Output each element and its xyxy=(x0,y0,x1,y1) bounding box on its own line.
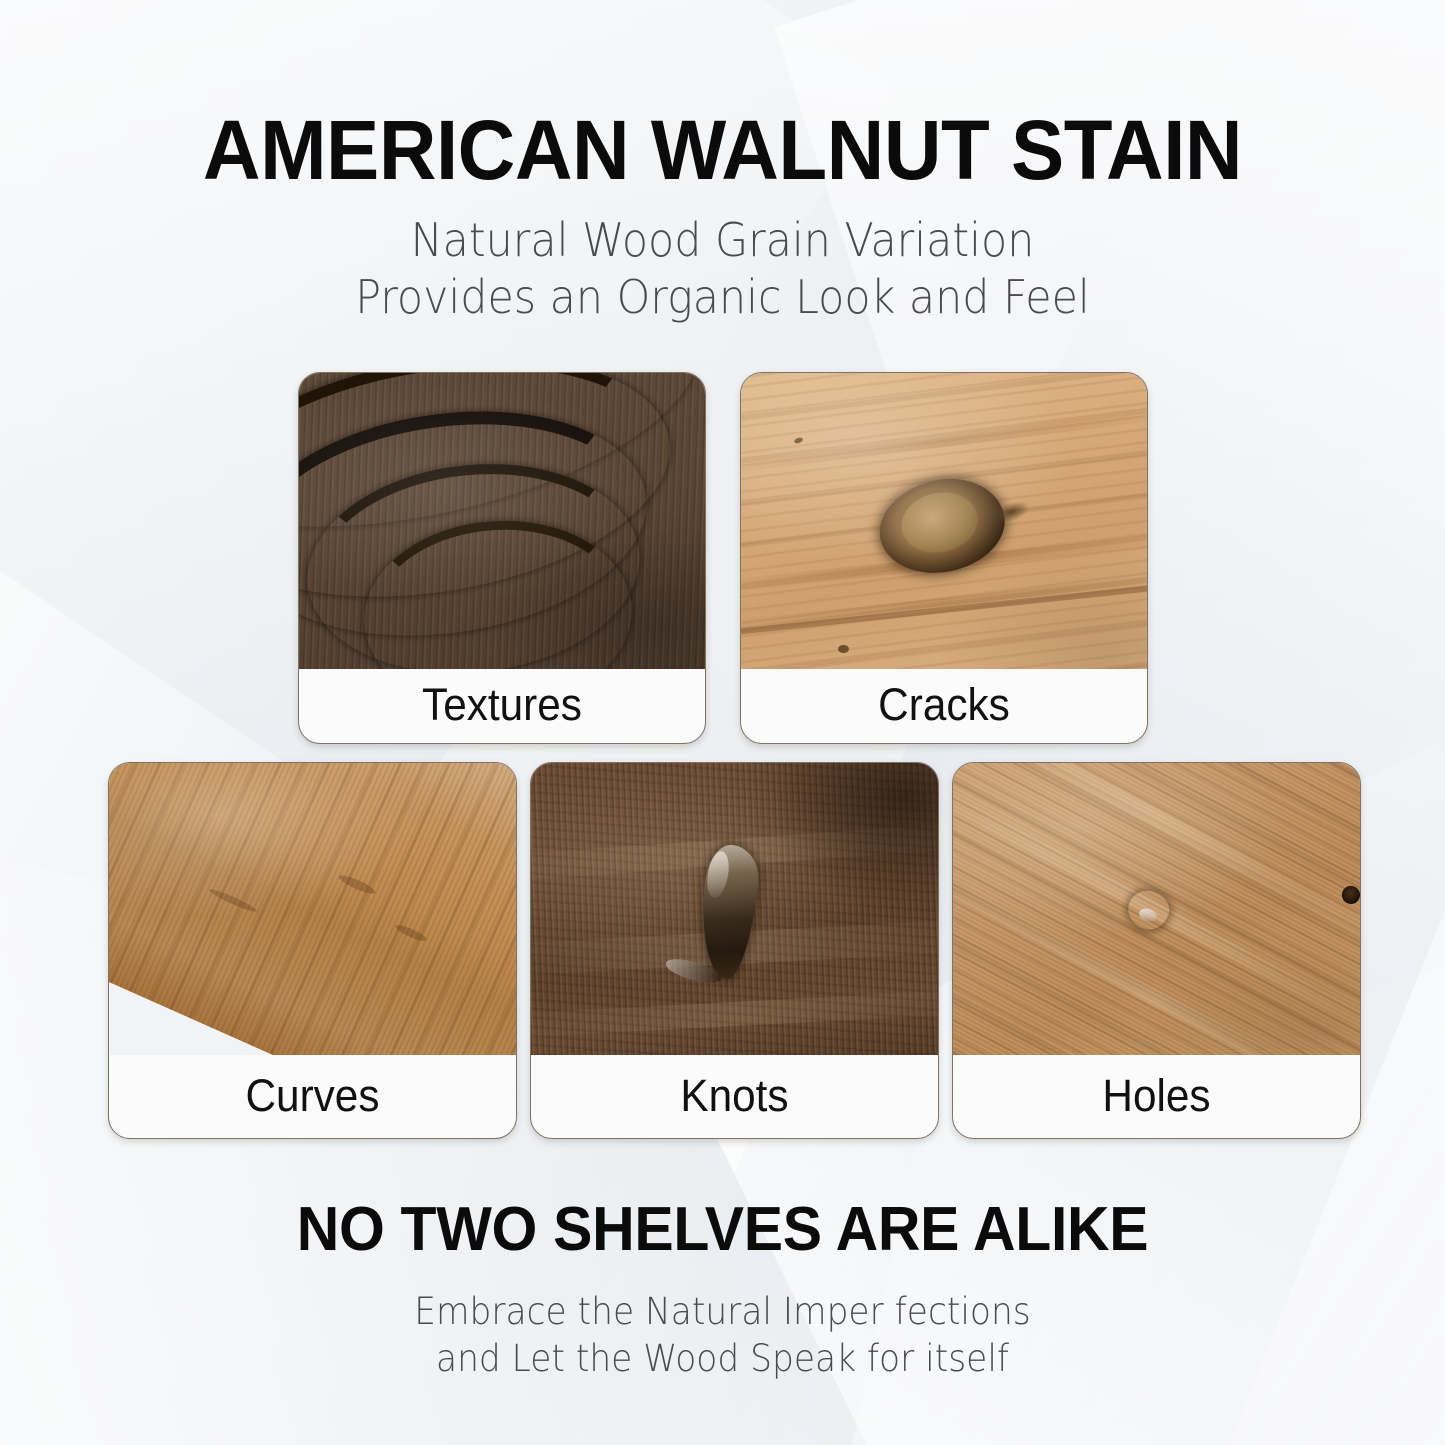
footer-subtitle-line-1: Embrace the Natural Imper fections xyxy=(51,1288,1395,1335)
cracks-swatch-image xyxy=(741,373,1147,669)
feature-card-textures[interactable]: Textures xyxy=(298,372,706,744)
feature-card-knots[interactable]: Knots xyxy=(530,762,939,1139)
dark-walnut-texture xyxy=(299,373,705,669)
footer-subtitle: Embrace the Natural Imper fections and L… xyxy=(51,1288,1395,1382)
knots-swatch-image xyxy=(531,763,938,1055)
feature-card-label-curves: Curves xyxy=(121,1053,504,1138)
feature-card-label-cracks: Cracks xyxy=(753,667,1135,743)
feature-card-holes[interactable]: Holes xyxy=(952,762,1361,1139)
textures-swatch-image xyxy=(299,373,705,669)
curves-sheen xyxy=(109,763,516,1055)
feature-card-cracks[interactable]: Cracks xyxy=(740,372,1148,744)
feature-card-label-textures: Textures xyxy=(311,667,693,743)
page-subtitle: Natural Wood Grain Variation Provides an… xyxy=(51,212,1395,326)
cracks-sheen xyxy=(741,373,1147,669)
medium-brown-wood-texture xyxy=(953,763,1360,1055)
infographic-root: AMERICAN WALNUT STAIN Natural Wood Grain… xyxy=(0,0,1445,1445)
page-subtitle-line-1: Natural Wood Grain Variation xyxy=(51,212,1395,269)
footer-subtitle-line-2: and Let the Wood Speak for itself xyxy=(51,1335,1395,1382)
page-title: AMERICAN WALNUT STAIN xyxy=(36,104,1409,196)
rich-brown-wood-texture xyxy=(531,763,938,1055)
page-subtitle-line-2: Provides an Organic Look and Feel xyxy=(51,269,1395,326)
knots-sheen xyxy=(531,763,938,1055)
feature-card-label-knots: Knots xyxy=(543,1053,926,1138)
feature-card-curves[interactable]: Curves xyxy=(108,762,517,1139)
footer-title: NO TWO SHELVES ARE ALIKE xyxy=(36,1195,1409,1265)
light-tan-wood-texture xyxy=(741,373,1147,669)
holes-swatch-image xyxy=(953,763,1360,1055)
textures-sheen xyxy=(299,373,705,669)
plank-edge-texture xyxy=(109,763,516,1055)
holes-sheen xyxy=(953,763,1360,1055)
feature-card-label-holes: Holes xyxy=(965,1053,1348,1138)
curves-swatch-image xyxy=(109,763,516,1055)
